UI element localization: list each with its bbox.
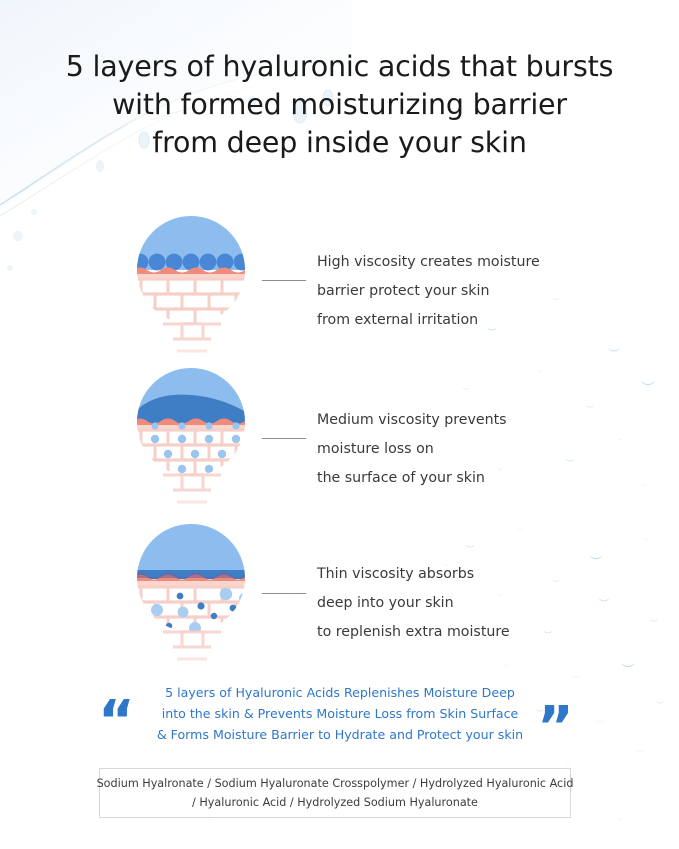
ingredients-list: Sodium Hyalronate / Sodium Hyaluronate C…	[99, 768, 571, 818]
hyaluronic-dome	[133, 520, 249, 573]
skin-cross-section-high-viscosity	[133, 212, 249, 357]
section-high-viscosity: High viscosity creates moisture barrier …	[0, 212, 679, 362]
quote-line-3: & Forms Moisture Barrier to Hydrate and …	[150, 724, 530, 745]
title-line-3: from deep inside your skin	[0, 124, 679, 162]
brick-tail	[163, 475, 221, 502]
quote-close-icon: ”	[537, 700, 572, 756]
caption-line-2: moisture loss on	[317, 435, 627, 464]
callout-line	[262, 593, 306, 594]
ingredient-line-1: Sodium Hyalronate / Sodium Hyaluronate C…	[97, 774, 574, 793]
caption-line-1: High viscosity creates moisture	[317, 248, 627, 277]
caption-line-3: the surface of your skin	[317, 464, 627, 493]
ingredient-line-2: / Hyaluronic Acid / Hydrolyzed Sodium Hy…	[192, 793, 478, 812]
caption-line-3: to replenish extra moisture	[317, 618, 627, 647]
caption-high-viscosity: High viscosity creates moisture barrier …	[317, 248, 627, 335]
skin-cross-section-medium-viscosity	[133, 364, 249, 509]
page-title: 5 layers of hyaluronic acids that bursts…	[0, 48, 679, 162]
section-thin-viscosity: Thin viscosity absorbs deep into your sk…	[0, 520, 679, 670]
quote-open-icon: “	[98, 694, 133, 750]
caption-thin-viscosity: Thin viscosity absorbs deep into your sk…	[317, 560, 627, 647]
caption-line-1: Thin viscosity absorbs	[317, 560, 627, 589]
caption-line-2: barrier protect your skin	[317, 277, 627, 306]
quote-text: 5 layers of Hyaluronic Acids Replenishes…	[150, 682, 530, 745]
brick-tail	[163, 324, 221, 351]
title-line-2: with formed moisturizing barrier	[0, 86, 679, 124]
caption-medium-viscosity: Medium viscosity prevents moisture loss …	[317, 406, 627, 493]
caption-line-3: from external irritation	[317, 306, 627, 335]
title-line-1: 5 layers of hyaluronic acids that bursts	[0, 48, 679, 86]
infographic-page: 5 layers of hyaluronic acids that bursts…	[0, 0, 679, 849]
skin-brick-layer	[133, 422, 249, 509]
callout-line	[262, 280, 306, 281]
skin-cross-section-thin-viscosity	[133, 520, 249, 665]
skin-brick-layer	[133, 278, 249, 357]
brick-tail	[163, 632, 221, 659]
section-medium-viscosity: Medium viscosity prevents moisture loss …	[0, 364, 679, 514]
quote-line-1: 5 layers of Hyaluronic Acids Replenishes…	[150, 682, 530, 703]
quote-line-2: into the skin & Prevents Moisture Loss f…	[150, 703, 530, 724]
summary-quote: “ 5 layers of Hyaluronic Acids Replenish…	[0, 682, 679, 752]
caption-line-1: Medium viscosity prevents	[317, 406, 627, 435]
skin-brick-layer	[133, 586, 249, 665]
caption-line-2: deep into your skin	[317, 589, 627, 618]
callout-line	[262, 438, 306, 439]
